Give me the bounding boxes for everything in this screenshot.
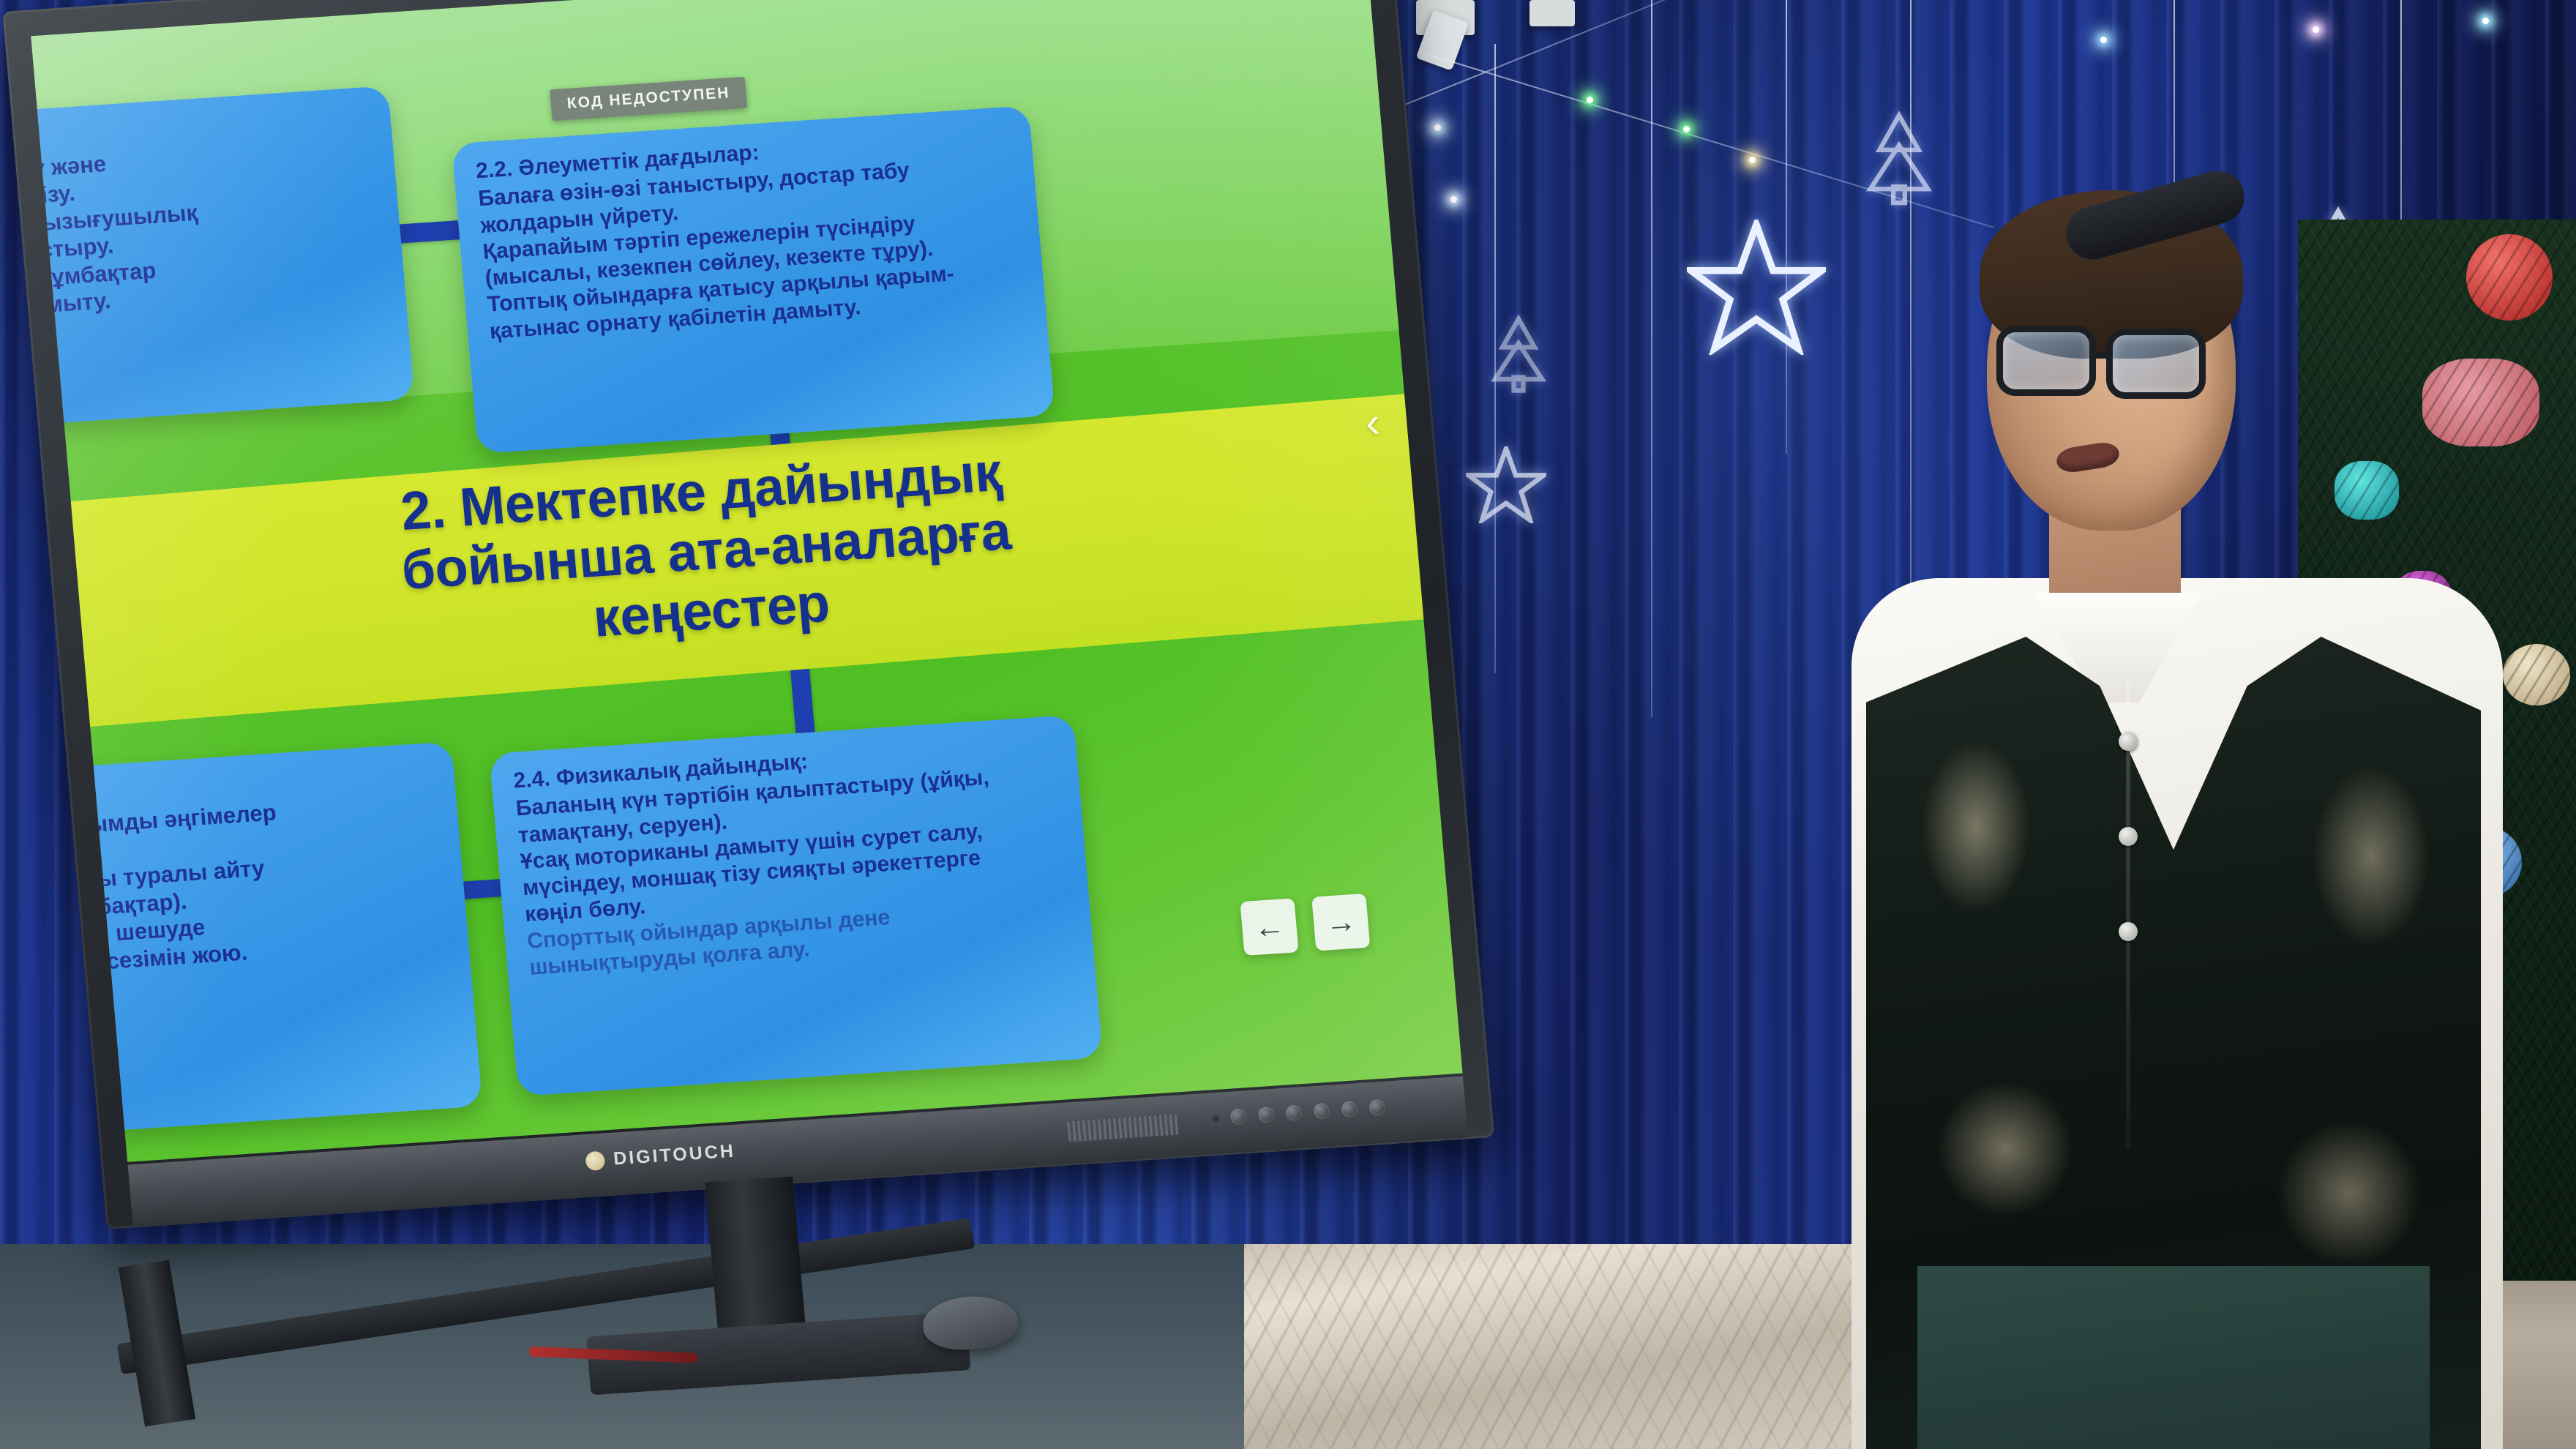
- bezel-button[interactable]: [1341, 1101, 1358, 1117]
- bezel-button[interactable]: [1257, 1107, 1275, 1123]
- led-light: [1683, 126, 1690, 132]
- led-light: [2100, 37, 2107, 43]
- vest-button: [2119, 827, 2138, 846]
- next-slide-button[interactable]: →: [1311, 894, 1370, 951]
- power-button[interactable]: [1230, 1108, 1248, 1125]
- bezel-button[interactable]: [1313, 1103, 1330, 1120]
- slide-navigation: ← →: [1240, 894, 1370, 956]
- presenter-skirt: [1917, 1266, 2430, 1449]
- slide-card-2-2: 2.2. Әлеуметтік дағдылар: Балаға өзін-өз…: [452, 105, 1055, 454]
- led-light: [2482, 18, 2489, 24]
- previous-slide-button[interactable]: ←: [1240, 898, 1298, 956]
- brand-mark-icon: [585, 1150, 605, 1171]
- ceiling-tag: [1529, 0, 1575, 26]
- presentation-room-scene: 2. Мектепке дайындық бойынша ата-аналарғ…: [0, 0, 2576, 1449]
- slide-card-2-4: 2.4. Физикалық дайындық: Баланың күн тәр…: [489, 715, 1103, 1096]
- bezel-button[interactable]: [1368, 1099, 1386, 1116]
- slide-card-2-1: даму: кті кітап оқу және мелер жүргізу. …: [31, 86, 414, 433]
- ir-sensor-icon: [1212, 1115, 1219, 1122]
- led-star-decoration: [1687, 220, 1826, 355]
- presenter-eyeglasses: [1996, 326, 2238, 402]
- display-screen[interactable]: 2. Мектепке дайындық бойынша ата-аналарғ…: [31, 0, 1462, 1162]
- eyeglass-lens-right: [2106, 329, 2206, 399]
- led-light: [2313, 26, 2319, 33]
- bezel-button[interactable]: [1285, 1104, 1303, 1121]
- eyeglass-lens-left: [1996, 326, 2096, 396]
- vest-center-seam: [2126, 681, 2130, 1149]
- vest-button: [2119, 922, 2138, 941]
- led-light: [1587, 97, 1593, 103]
- interactive-display-panel: 2. Мектепке дайындық бойынша ата-аналарғ…: [0, 0, 1577, 1341]
- led-light: [1749, 157, 1756, 163]
- light-string-wire: [1651, 0, 1652, 717]
- vest-button: [2119, 732, 2138, 751]
- tree-ornament-gold: [2503, 644, 2570, 705]
- presenter: [1822, 168, 2503, 1449]
